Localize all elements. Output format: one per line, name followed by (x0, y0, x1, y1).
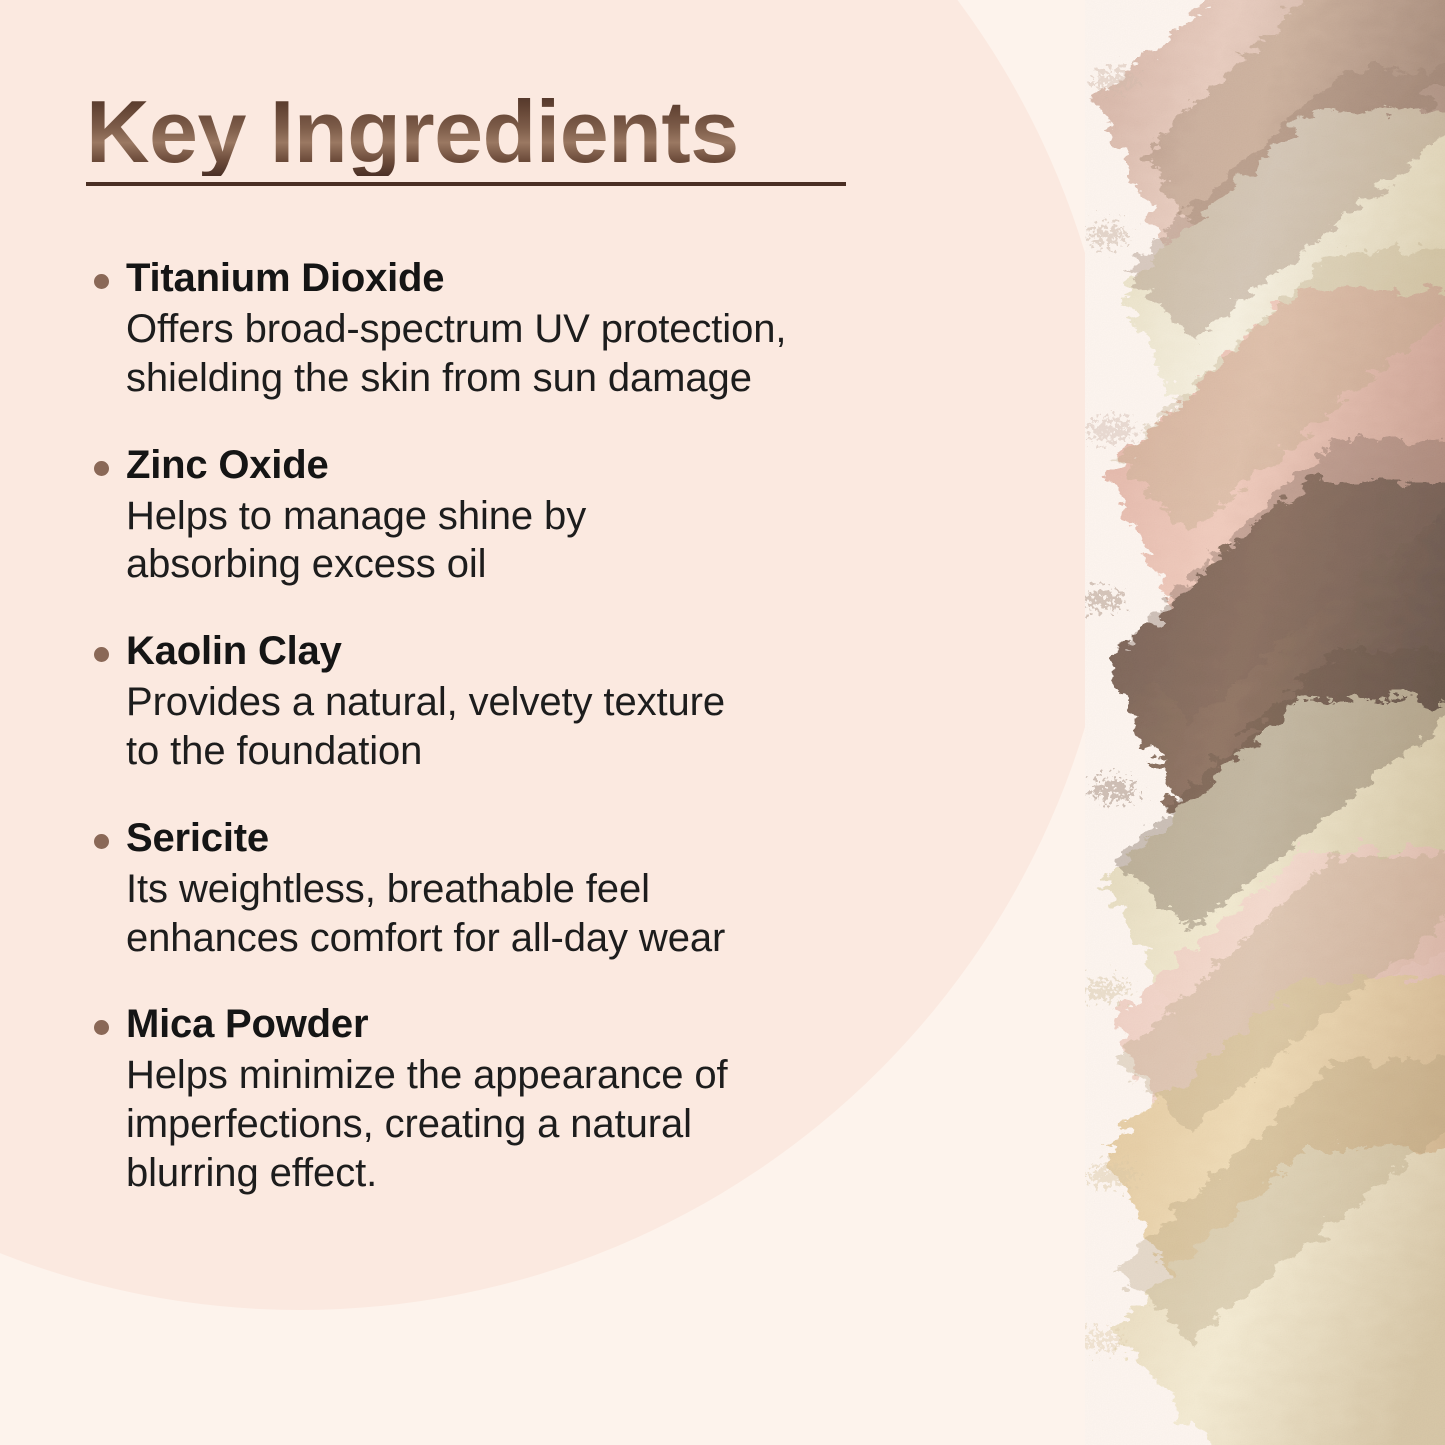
title-block: Key Ingredients (86, 88, 886, 186)
bullet-dot-icon (94, 1020, 109, 1035)
list-item: Sericite Its weightless, breathable feel… (86, 815, 1006, 963)
ingredient-name: Zinc Oxide (126, 442, 1006, 488)
bullet-dot-icon (94, 647, 109, 662)
list-item: Zinc Oxide Helps to manage shine by abso… (86, 442, 1006, 590)
list-item: Kaolin Clay Provides a natural, velvety … (86, 628, 1006, 776)
title-underline (86, 182, 846, 186)
ingredient-description: Helps to manage shine by absorbing exces… (126, 492, 1006, 590)
list-item: Titanium Dioxide Offers broad-spectrum U… (86, 255, 1006, 403)
ingredient-description: Its weightless, breathable feel enhances… (126, 865, 1006, 963)
page-title: Key Ingredients (86, 88, 886, 176)
bullet-dot-icon (94, 834, 109, 849)
powder-illustration (1085, 0, 1445, 1445)
bullet-dot-icon (94, 461, 109, 476)
powder-swatch-image (1085, 0, 1445, 1445)
bullet-dot-icon (94, 274, 109, 289)
ingredient-name: Titanium Dioxide (126, 255, 1006, 301)
content-column: Key Ingredients Titanium Dioxide Offers … (0, 0, 1040, 1445)
ingredients-list: Titanium Dioxide Offers broad-spectrum U… (86, 255, 1006, 1198)
ingredient-name: Mica Powder (126, 1001, 1006, 1047)
list-item: Mica Powder Helps minimize the appearanc… (86, 1001, 1006, 1197)
ingredient-name: Sericite (126, 815, 1006, 861)
ingredient-description: Helps minimize the appearance of imperfe… (126, 1051, 1006, 1197)
infographic-page: Key Ingredients Titanium Dioxide Offers … (0, 0, 1445, 1445)
ingredient-name: Kaolin Clay (126, 628, 1006, 674)
ingredient-description: Provides a natural, velvety texture to t… (126, 678, 1006, 776)
ingredient-description: Offers broad-spectrum UV protection, shi… (126, 305, 1006, 403)
